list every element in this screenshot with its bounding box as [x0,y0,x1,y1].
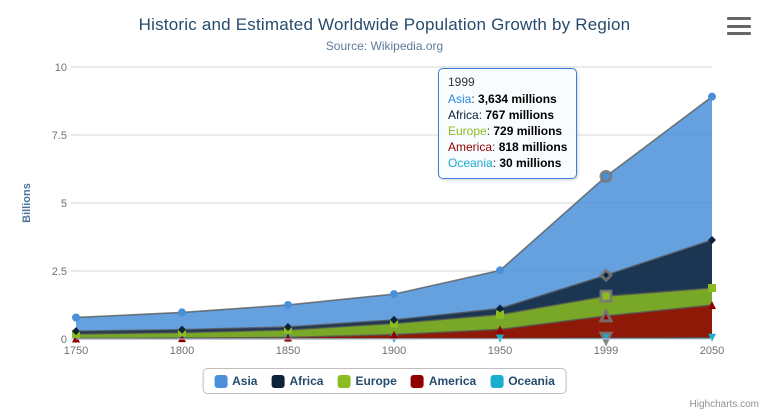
legend-swatch-icon [271,375,284,388]
highcharts-chart: Historic and Estimated Worldwide Populat… [0,0,769,416]
x-axis-tick-label: 1800 [170,345,194,357]
data-point-asia-1900[interactable] [390,290,398,298]
x-axis-tick-label: 2050 [700,345,724,357]
x-axis-tick-label: 1750 [64,345,88,357]
legend-item-america[interactable]: America [411,374,476,388]
y-axis-tick-label: 10 [55,62,67,74]
legend-swatch-icon [214,375,227,388]
y-axis-title: Billions [21,183,33,223]
data-point-asia-1800[interactable] [178,308,186,316]
legend-label: Europe [355,374,396,388]
x-axis-tick-label: 1950 [488,345,512,357]
legend-swatch-icon [337,375,350,388]
x-axis-tick-label: 1900 [382,345,406,357]
legend-item-europe[interactable]: Europe [337,374,396,388]
data-point-africa-1999[interactable] [601,270,611,280]
data-point-asia-2050[interactable] [708,93,716,101]
legend-label: America [429,374,476,388]
legend-label: Asia [232,374,257,388]
highcharts-credits[interactable]: Highcharts.com [690,399,759,410]
data-point-asia-1999[interactable] [601,171,611,181]
chart-legend: AsiaAfricaEuropeAmericaOceania [202,368,567,394]
data-point-oceania-1999[interactable] [601,333,611,343]
data-point-asia-1750[interactable] [72,313,80,321]
legend-item-oceania[interactable]: Oceania [490,374,555,388]
data-point-asia-1850[interactable] [284,301,292,309]
data-point-europe-2050[interactable] [708,284,716,292]
legend-label: Africa [289,374,323,388]
legend-label: Oceania [508,374,555,388]
y-axis-tick-label: 2.5 [52,266,67,278]
x-axis-tick-label: 1850 [276,345,300,357]
x-axis-tick-label: 1999 [594,345,618,357]
data-point-asia-1950[interactable] [496,266,504,274]
legend-swatch-icon [411,375,424,388]
y-axis-tick-label: 7.5 [52,130,67,142]
legend-swatch-icon [490,375,503,388]
plot-area: 02.557.510Billions1750180018501900195019… [0,0,769,416]
y-axis-tick-label: 5 [61,198,67,210]
legend-item-africa[interactable]: Africa [271,374,323,388]
legend-item-asia[interactable]: Asia [214,374,257,388]
data-point-europe-1999[interactable] [601,291,611,301]
